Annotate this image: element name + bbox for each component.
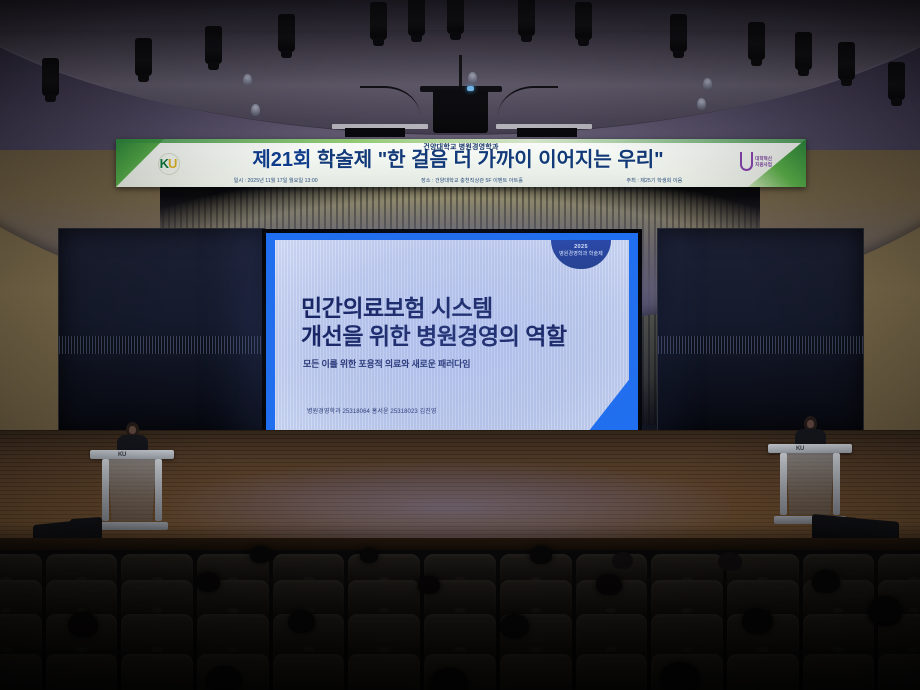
podium-top-surface — [768, 444, 852, 453]
podium-body — [104, 459, 160, 521]
presentation-slide: 2025 병원경영학과 학술제 민간의료보험 시스템 개선을 위한 병원경영의 … — [266, 233, 638, 441]
innovation-line2: 지원사업 — [755, 162, 772, 167]
podium-left: KU — [90, 450, 174, 530]
presenter-face — [129, 426, 136, 434]
banner-title-text: 학술제 "한 걸음 더 가까이 이어지는 우리" — [317, 149, 664, 171]
podium-logo-right: KU — [796, 446, 804, 452]
audience-head — [660, 662, 700, 690]
podium-right: KU — [768, 444, 852, 524]
stage-light-icon — [447, 0, 464, 34]
audience-head — [196, 572, 220, 592]
podium-column-left — [102, 459, 109, 521]
audience-seat — [576, 654, 648, 690]
innovation-logo-text: 대학혁신 지원사업 — [755, 156, 772, 168]
audience-seat — [878, 654, 920, 690]
hanging-speaker-icon — [433, 89, 488, 133]
podium-top-surface — [90, 450, 174, 459]
logo-letter-u: U — [168, 156, 176, 171]
audience-head — [68, 612, 98, 637]
slide-event-badge: 2025 병원경영학과 학술제 — [551, 240, 611, 269]
innovation-line1: 대학혁신 — [755, 156, 772, 161]
logo-u-mark-icon — [740, 152, 753, 171]
audience-head — [742, 608, 773, 634]
innovation-program-logo-icon: 대학혁신 지원사업 — [740, 152, 772, 171]
speaker-mount-rod — [459, 55, 462, 89]
banner-place: 장소 : 건양대학교 충천직상관 5F 이벤트 아트홀 — [421, 177, 523, 184]
audience-head — [612, 552, 633, 569]
rail-block-left — [345, 128, 405, 137]
audience-head — [500, 614, 529, 638]
projection-screen: 2025 병원경영학과 학술제 민간의료보험 시스템 개선을 위한 병원경영의 … — [262, 229, 642, 445]
display-scanline-band — [658, 336, 863, 354]
podium-body — [782, 453, 838, 515]
logo-letter-k: K — [160, 156, 168, 171]
presenter-face — [807, 420, 814, 428]
audience-head — [596, 574, 622, 595]
audience-seat — [0, 654, 42, 690]
audience-seat — [273, 654, 345, 690]
banner-details: 일시 : 2025년 11월 17일 월요일 13:00 장소 : 건양대학교 … — [182, 177, 734, 184]
auditorium-photo: KU 건양대학교 병원경영학과 제21회 학술제 "한 걸음 더 가까이 이어지… — [0, 0, 920, 690]
audience-head — [718, 552, 742, 571]
banner-title: 제21회 학술제 "한 걸음 더 가까이 이어지는 우리" — [188, 149, 728, 171]
podium-column-left — [780, 453, 787, 515]
slide-subtitle: 모든 이를 위한 포용적 의료와 새로운 패러다임 — [303, 357, 470, 370]
slide-badge-year: 2025 — [551, 244, 611, 251]
banner-edition: 제21회 — [252, 149, 311, 171]
audience-seat — [348, 654, 420, 690]
speaker-status-led-icon — [467, 86, 474, 91]
audience-head — [530, 546, 552, 564]
audience-head — [418, 576, 440, 594]
event-banner: KU 건양대학교 병원경영학과 제21회 학술제 "한 걸음 더 가까이 이어지… — [116, 139, 806, 187]
slide-title: 민간의료보험 시스템 개선을 위한 병원경영의 역할 — [301, 294, 611, 350]
audience-seat — [121, 654, 193, 690]
slide-title-line2: 개선을 위한 병원경영의 역할 — [301, 322, 611, 350]
konyang-university-logo-icon: KU — [152, 151, 184, 175]
slide-content-area: 2025 병원경영학과 학술제 민간의료보험 시스템 개선을 위한 병원경영의 … — [275, 240, 629, 434]
podium-logo-left: KU — [118, 452, 126, 458]
audience-head — [206, 666, 242, 690]
slide-badge-text: 병원경영학과 학술제 — [551, 251, 611, 258]
audience-head — [250, 546, 271, 563]
side-display-right — [657, 228, 864, 435]
audience-seat — [803, 654, 875, 690]
presenter-left — [116, 422, 148, 452]
audience-head — [430, 668, 468, 690]
audience-head — [868, 596, 902, 626]
podium-column-right — [833, 453, 840, 515]
audience-seating-area — [0, 550, 920, 690]
audience-seat — [727, 654, 799, 690]
banner-date: 일시 : 2025년 11월 17일 월요일 13:00 — [234, 177, 318, 184]
presenter-right — [794, 416, 826, 446]
slide-authors: 병원경영학과 25318064 홍서윤 25318023 김진영 — [307, 406, 437, 415]
rail-block-right — [517, 128, 577, 137]
audience-head — [288, 610, 315, 633]
display-scanline-band — [59, 336, 264, 354]
audience-seat — [46, 654, 118, 690]
podium-base — [96, 522, 168, 530]
audience-head — [812, 570, 840, 593]
podium-column-right — [155, 459, 162, 521]
audience-seat — [500, 654, 572, 690]
slide-title-line1: 민간의료보험 시스템 — [301, 295, 493, 321]
audience-head — [360, 548, 378, 563]
side-display-left — [58, 228, 265, 435]
banner-host: 주최 : 제25기 학생회 이음 — [626, 177, 682, 184]
